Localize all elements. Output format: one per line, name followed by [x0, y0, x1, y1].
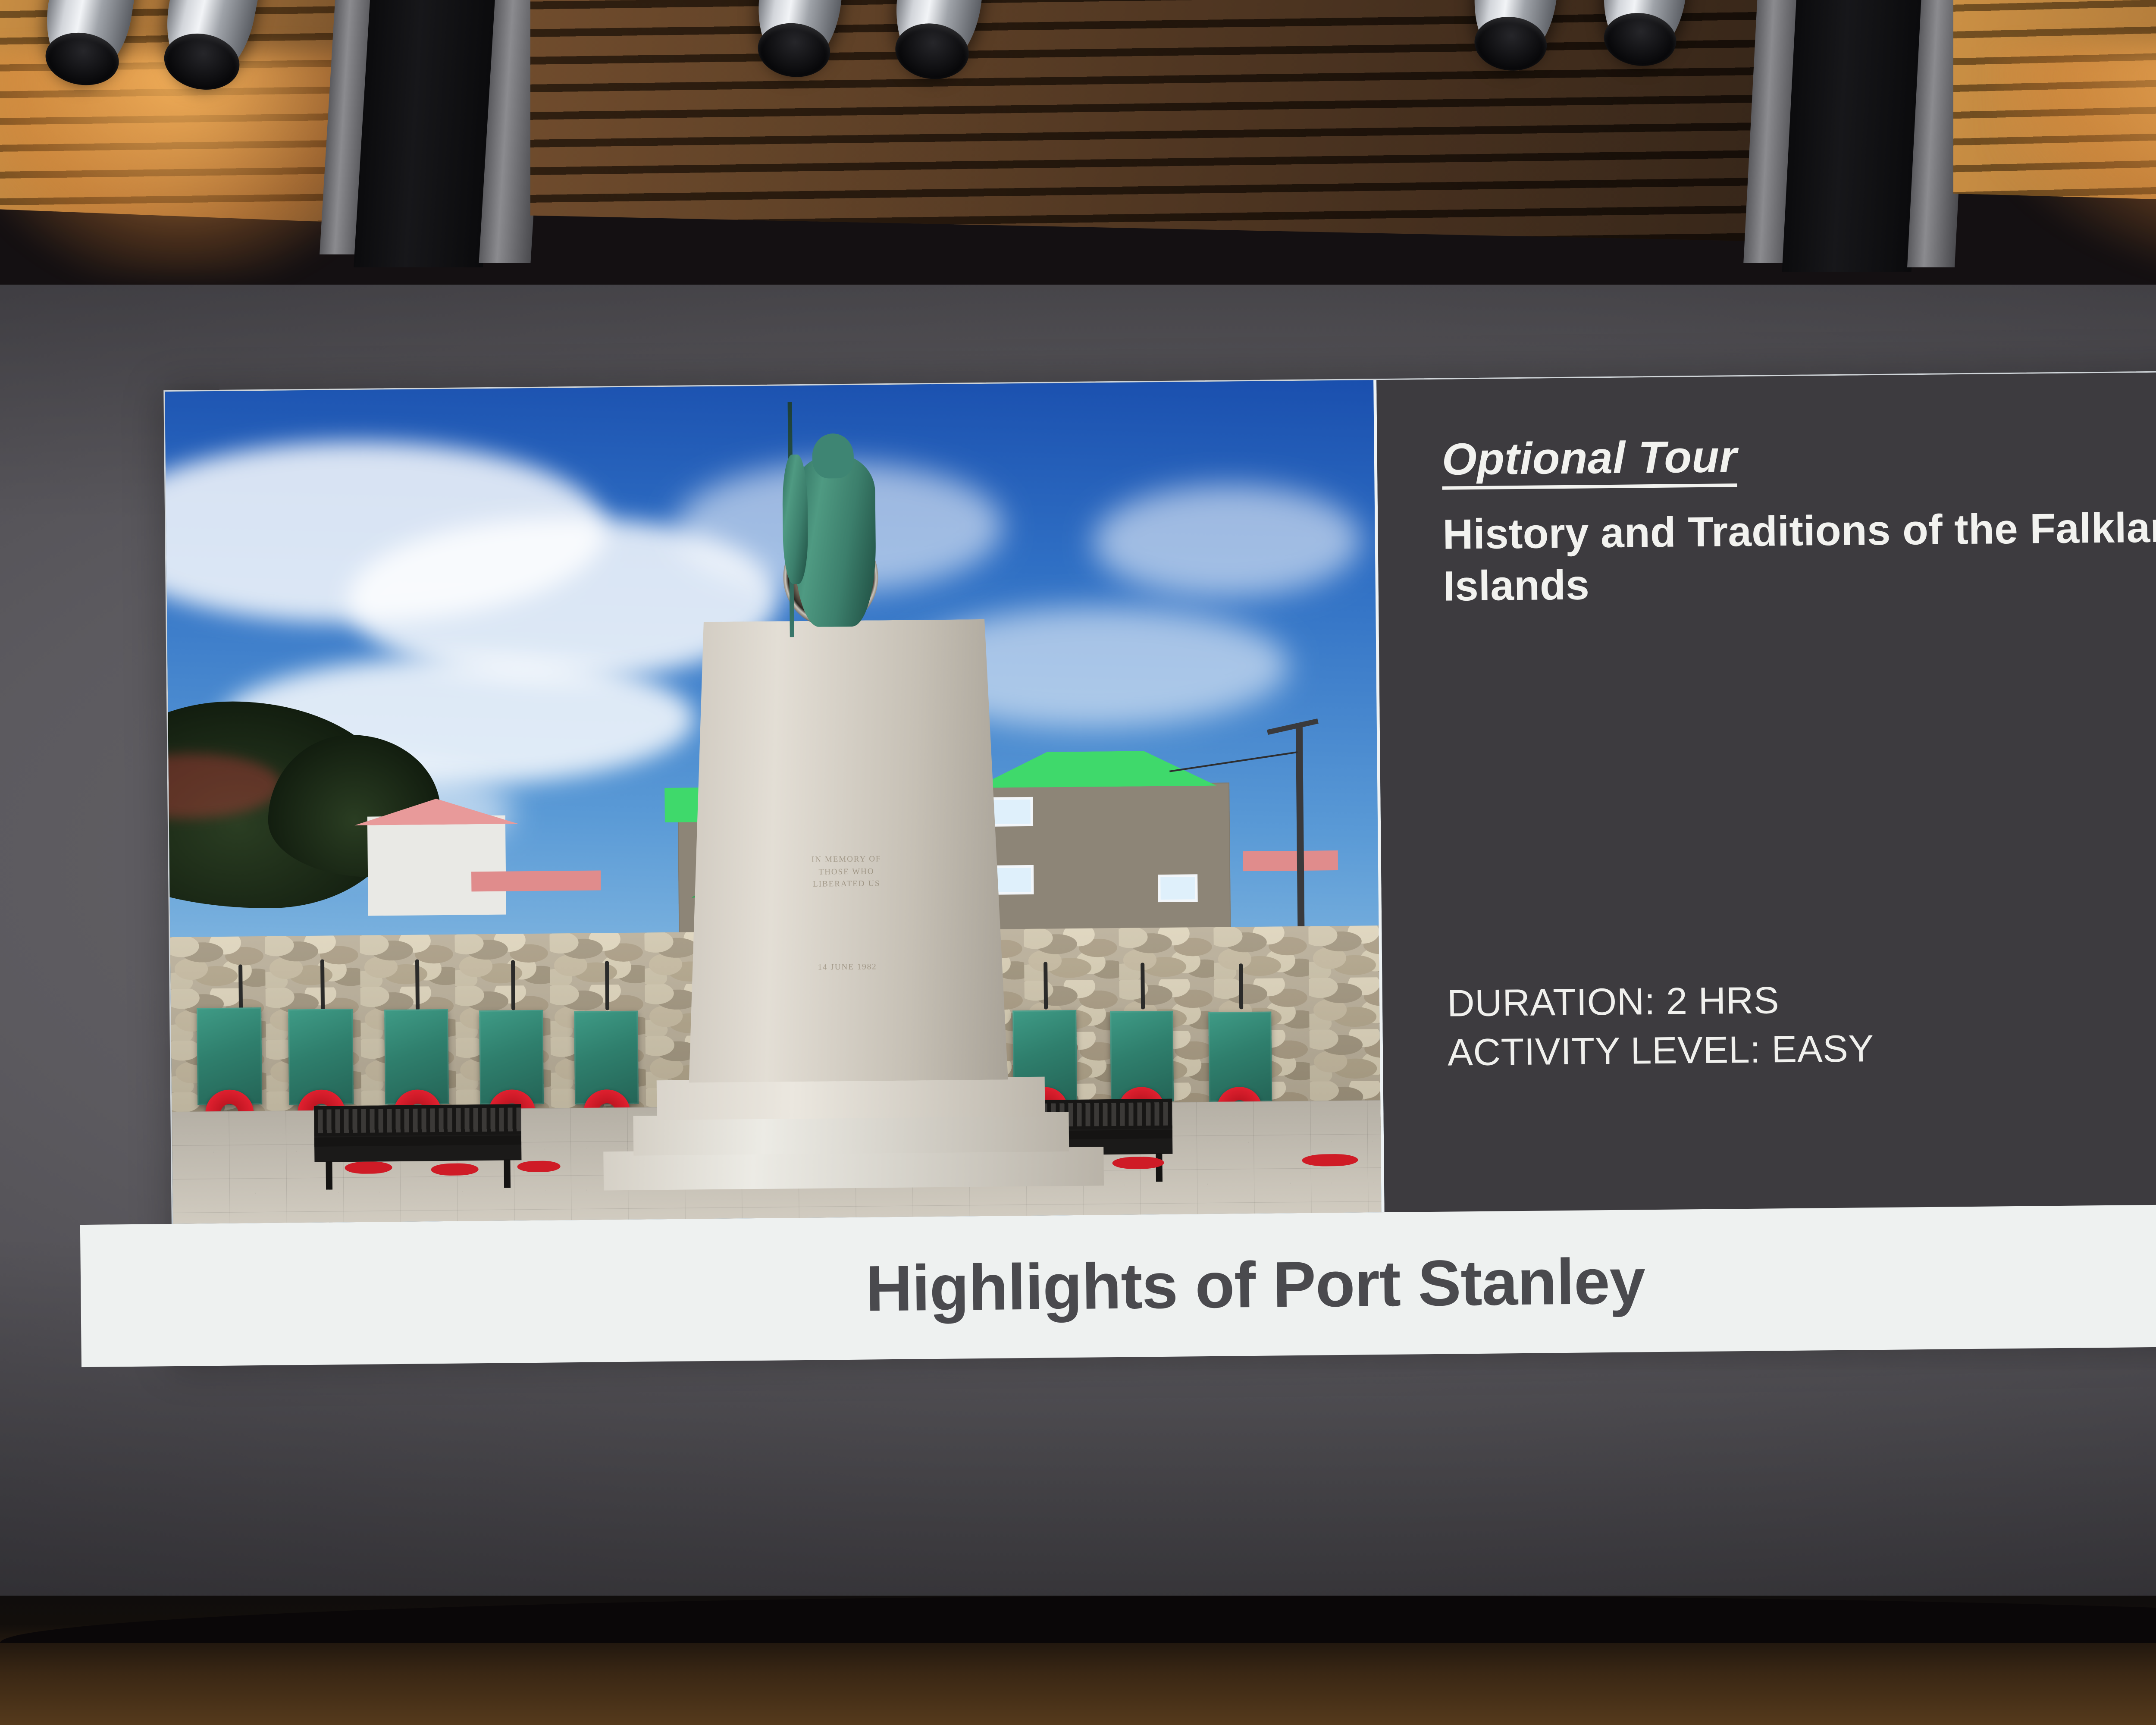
window [1159, 875, 1197, 901]
statue-head [812, 433, 854, 479]
plaque-hook [605, 961, 609, 1010]
poppy-wreath-on-ground [1302, 1154, 1358, 1167]
monument-obelisk: IN MEMORY OFTHOSE WHOLIBERATED US 14 JUN… [684, 619, 1008, 1082]
poppy-wreath-on-ground [1112, 1157, 1164, 1169]
tour-duration: DURATION: 2 HRS [1447, 975, 1874, 1028]
monument-photo: IN MEMORY OFTHOSE WHOLIBERATED US 14 JUN… [165, 380, 1384, 1224]
plaque-hook [415, 960, 420, 1010]
bench-leg [504, 1160, 511, 1188]
slide-title: Highlights of Port Stanley [865, 1248, 1645, 1320]
tour-details: DURATION: 2 HRS ACTIVITY LEVEL: EASY [1447, 975, 1874, 1077]
monument-cornice [657, 1077, 1045, 1120]
plaque-hook [1239, 963, 1243, 1009]
bench-back [314, 1104, 521, 1136]
monument-inscription: IN MEMORY OFTHOSE WHOLIBERATED US [687, 852, 1006, 892]
ceiling-beam-dark-2 [1782, 0, 1927, 272]
plaque-hook [1141, 963, 1145, 1009]
bench-leg [326, 1161, 332, 1189]
ceiling-glow-right [1992, 47, 2156, 272]
slide-content-row: IN MEMORY OFTHOSE WHOLIBERATED US 14 JUN… [165, 370, 2156, 1224]
ceiling [0, 0, 2156, 302]
slide-title-bar: Highlights of Port Stanley [80, 1202, 2156, 1367]
poppy-wreath-on-ground [517, 1160, 560, 1172]
ceiling-wood-panel-center [530, 0, 1781, 241]
poppy-wreath-on-ground [345, 1161, 392, 1174]
slide-text-panel: Optional Tour History and Traditions of … [1376, 370, 2156, 1212]
plaque-hook [511, 960, 515, 1010]
monument-inscription-date: 14 JUNE 1982 [688, 960, 1007, 975]
ceiling-beam-dark-1 [354, 0, 500, 267]
statue-arm [782, 455, 808, 584]
bench-leg [1156, 1153, 1163, 1182]
plaque-hook [238, 964, 243, 1012]
red-roof [1243, 850, 1338, 871]
floor-and-wainscot [0, 1596, 2156, 1725]
lecture-room: IN MEMORY OFTHOSE WHOLIBERATED US 14 JUN… [0, 0, 2156, 1725]
red-roof [471, 870, 601, 891]
plaque-hook [320, 960, 325, 1011]
bench [314, 1104, 521, 1162]
poppy-wreath-on-ground [431, 1163, 479, 1176]
plaque-hook [1044, 962, 1048, 1010]
window [990, 798, 1032, 825]
bench-seat [314, 1135, 521, 1146]
white-house [367, 815, 506, 916]
optional-tour-eyebrow: Optional Tour [1442, 433, 1737, 490]
tour-heading: History and Traditions of the Falkland I… [1442, 501, 2156, 612]
presentation-slide: IN MEMORY OFTHOSE WHOLIBERATED US 14 JUN… [163, 369, 2156, 1365]
tour-activity-level: ACTIVITY LEVEL: EASY [1448, 1024, 1874, 1078]
